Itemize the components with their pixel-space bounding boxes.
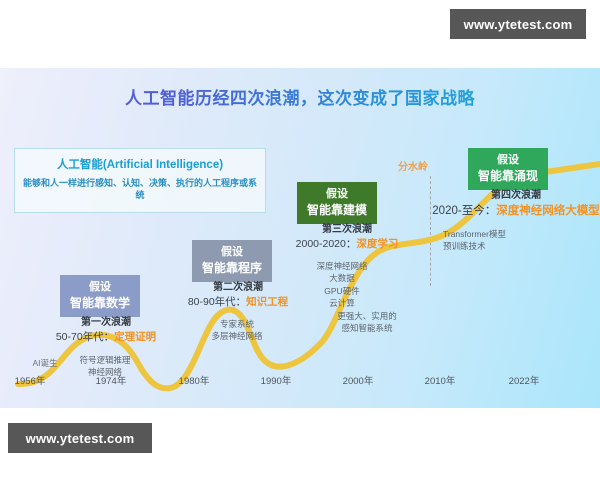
wave1-name: 第一次浪潮 — [36, 315, 176, 330]
wave1-chip-line2: 智能靠数学 — [70, 295, 130, 311]
x-tick-2: 1980年 — [179, 373, 210, 387]
wave3-chip-line1: 假设 — [326, 188, 348, 200]
x-tick-3: 1990年 — [261, 373, 292, 387]
x-tick-6: 2022年 — [509, 373, 540, 387]
wave4-era-text: 2020-至今： — [432, 205, 496, 217]
wave1-era-text: 50-70年代： — [56, 331, 114, 343]
wave2-hypothesis-chip: 假设 智能靠程序 — [192, 240, 272, 282]
wave1-info: 第一次浪潮 50-70年代：定理证明 — [36, 315, 176, 346]
ai-birth-label: AI诞生 — [32, 357, 57, 369]
watermark-top: www.ytetest.com — [450, 9, 586, 39]
wave1-era-highlight: 定理证明 — [114, 331, 156, 343]
wave4-name: 第四次浪潮 — [430, 188, 600, 203]
wave1-hypothesis-chip: 假设 智能靠数学 — [60, 275, 140, 317]
wave2-subpoints: 专家系统 多层神经网络 — [172, 318, 302, 343]
wave2-chip-line2: 智能靠程序 — [202, 260, 262, 276]
wave3-era: 2000-2020：深度学习 — [272, 237, 422, 253]
wave2-era: 80-90年代：知识工程 — [168, 295, 308, 311]
x-tick-4: 2000年 — [343, 373, 374, 387]
wave4-hypothesis-chip: 假设 智能靠涌现 — [468, 148, 548, 190]
infographic-root: www.ytetest.com 人工智能历经四次浪潮，这次变成了国家战略 人工智… — [0, 0, 600, 480]
wave4-chip-line1: 假设 — [497, 154, 519, 166]
timeline-chart: 人工智能历经四次浪潮，这次变成了国家战略 人工智能(Artificial Int… — [0, 68, 600, 408]
x-axis: 1956年 1974年 1980年 1990年 2000年 2010年 2022… — [0, 373, 600, 403]
wave1-chip-line1: 假设 — [89, 281, 111, 293]
wave3-info: 第三次浪潮 2000-2020：深度学习 — [272, 222, 422, 253]
wave2-era-highlight: 知识工程 — [246, 296, 288, 308]
wave3-chip-line2: 智能靠建模 — [307, 202, 367, 218]
wave4-era: 2020-至今：深度神经网络大模型 — [430, 203, 600, 220]
wave3-name: 第三次浪潮 — [272, 222, 422, 237]
wave2-name: 第二次浪潮 — [168, 280, 308, 295]
wave3-outcome: 更强大、实用的 感知智能系统 — [302, 310, 432, 335]
wave2-info: 第二次浪潮 80-90年代：知识工程 — [168, 280, 308, 311]
wave3-era-text: 2000-2020： — [296, 238, 357, 250]
wave2-chip-line1: 假设 — [221, 246, 243, 258]
wave4-info: 第四次浪潮 2020-至今：深度神经网络大模型 — [430, 188, 600, 220]
x-tick-5: 2010年 — [425, 373, 456, 387]
x-tick-1: 1974年 — [96, 373, 127, 387]
wave1-era: 50-70年代：定理证明 — [36, 330, 176, 346]
wave4-chip-line2: 智能靠涌现 — [478, 168, 538, 184]
wave3-hypothesis-chip: 假设 智能靠建模 — [297, 182, 377, 224]
wave2-era-text: 80-90年代： — [188, 296, 246, 308]
watermark-bottom: www.ytetest.com — [8, 423, 152, 453]
wave3-subpoints: 深度神经网络 大数据 GPU硬件 云计算 — [292, 260, 392, 309]
wave3-era-highlight: 深度学习 — [356, 238, 398, 250]
x-tick-0: 1956年 — [15, 373, 46, 387]
wave4-era-highlight: 深度神经网络大模型 — [496, 205, 600, 217]
wave4-subpoints: Transformer模型 预训练技术 — [443, 228, 563, 253]
